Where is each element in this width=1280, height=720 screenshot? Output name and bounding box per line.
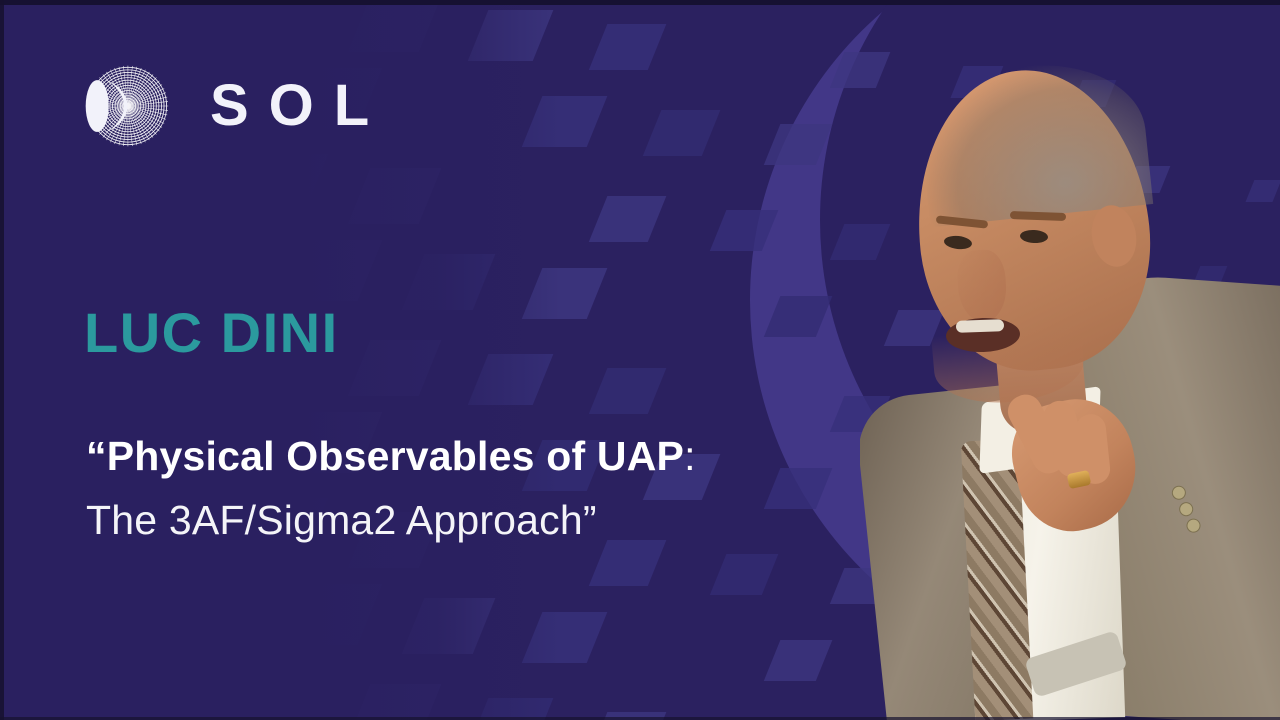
sol-wordmark: SOL [208,77,389,135]
pattern-diamond [763,124,832,165]
pattern-diamond [763,640,832,681]
left-edge-band [0,0,4,720]
title-colon: : [684,433,696,479]
talk-title: “Physical Observables of UAP: The 3AF/Si… [86,430,866,547]
brand-logo: SOL [78,58,389,154]
pattern-diamond [709,554,778,595]
pattern-diamond [709,210,778,251]
pattern-diamond [589,540,666,586]
sol-sphere-logo-icon [78,58,174,154]
teeth [956,319,1004,333]
top-edge-band [0,0,1280,5]
title-open-quote: “ [86,433,107,479]
pattern-diamond [763,296,832,337]
title-text-1: Physical Observables of UAP [107,433,684,479]
speaker-name: LUC DINI [84,305,339,361]
title-line-2: The 3AF/Sigma2 Approach” [86,494,866,546]
title-line-1: “Physical Observables of UAP: [86,430,866,482]
speaker-photo [860,0,1280,720]
hair [915,55,1153,228]
pattern-diamond [589,24,666,70]
pattern-diamond [589,368,666,414]
title-slide: SOL LUC DINI “Physical Observables of UA… [0,0,1280,720]
pattern-diamond [643,110,720,156]
pattern-diamond [589,196,666,242]
